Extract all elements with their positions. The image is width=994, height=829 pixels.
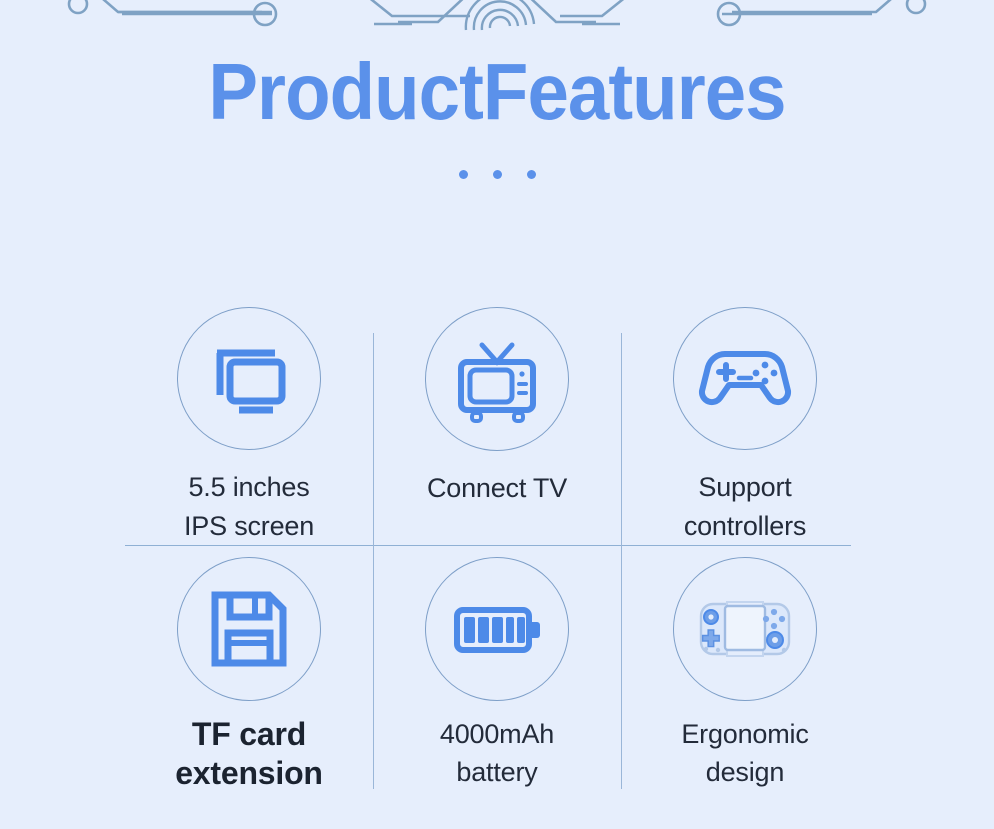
feature-item-tf-card: TF card extension <box>125 545 373 829</box>
gamepad-icon-circle <box>673 307 817 450</box>
gamepad-icon <box>695 329 795 429</box>
decoration-dot-1 <box>459 170 468 179</box>
page-title-wrapper: ProductFeatures <box>0 52 994 132</box>
television-icon <box>449 331 545 427</box>
monitor-screen-icon-circle <box>177 307 321 450</box>
feature-grid: 5.5 inches IPS screen Conne <box>125 295 869 829</box>
page-title: ProductFeatures <box>35 52 959 132</box>
feature-label: 4000mAh battery <box>440 715 554 792</box>
feature-item-support-controllers: Support controllers <box>621 295 869 545</box>
battery-full-icon-circle <box>425 557 569 701</box>
feature-item-ergonomic-design: Ergonomic design <box>621 545 869 829</box>
circuit-decoration-band <box>0 0 994 46</box>
title-dots-decoration <box>0 170 994 179</box>
battery-full-icon <box>447 579 547 679</box>
floppy-disk-icon-circle <box>177 557 321 701</box>
handheld-console-icon-circle <box>673 557 817 701</box>
feature-label: 5.5 inches IPS screen <box>184 468 314 545</box>
decoration-dot-3 <box>527 170 536 179</box>
circuit-pattern-svg <box>0 0 994 46</box>
feature-label: Ergonomic design <box>681 715 808 792</box>
feature-label: Connect TV <box>427 469 567 507</box>
television-icon-circle <box>425 307 569 451</box>
monitor-screen-icon <box>201 331 297 427</box>
feature-item-connect-tv: Connect TV <box>373 295 621 545</box>
handheld-console-icon <box>687 588 803 670</box>
feature-label: TF card extension <box>175 715 323 793</box>
feature-label: Support controllers <box>684 468 806 545</box>
floppy-disk-icon <box>203 583 295 675</box>
feature-item-battery: 4000mAh battery <box>373 545 621 829</box>
feature-item-ips-screen: 5.5 inches IPS screen <box>125 295 373 545</box>
decoration-dot-2 <box>493 170 502 179</box>
